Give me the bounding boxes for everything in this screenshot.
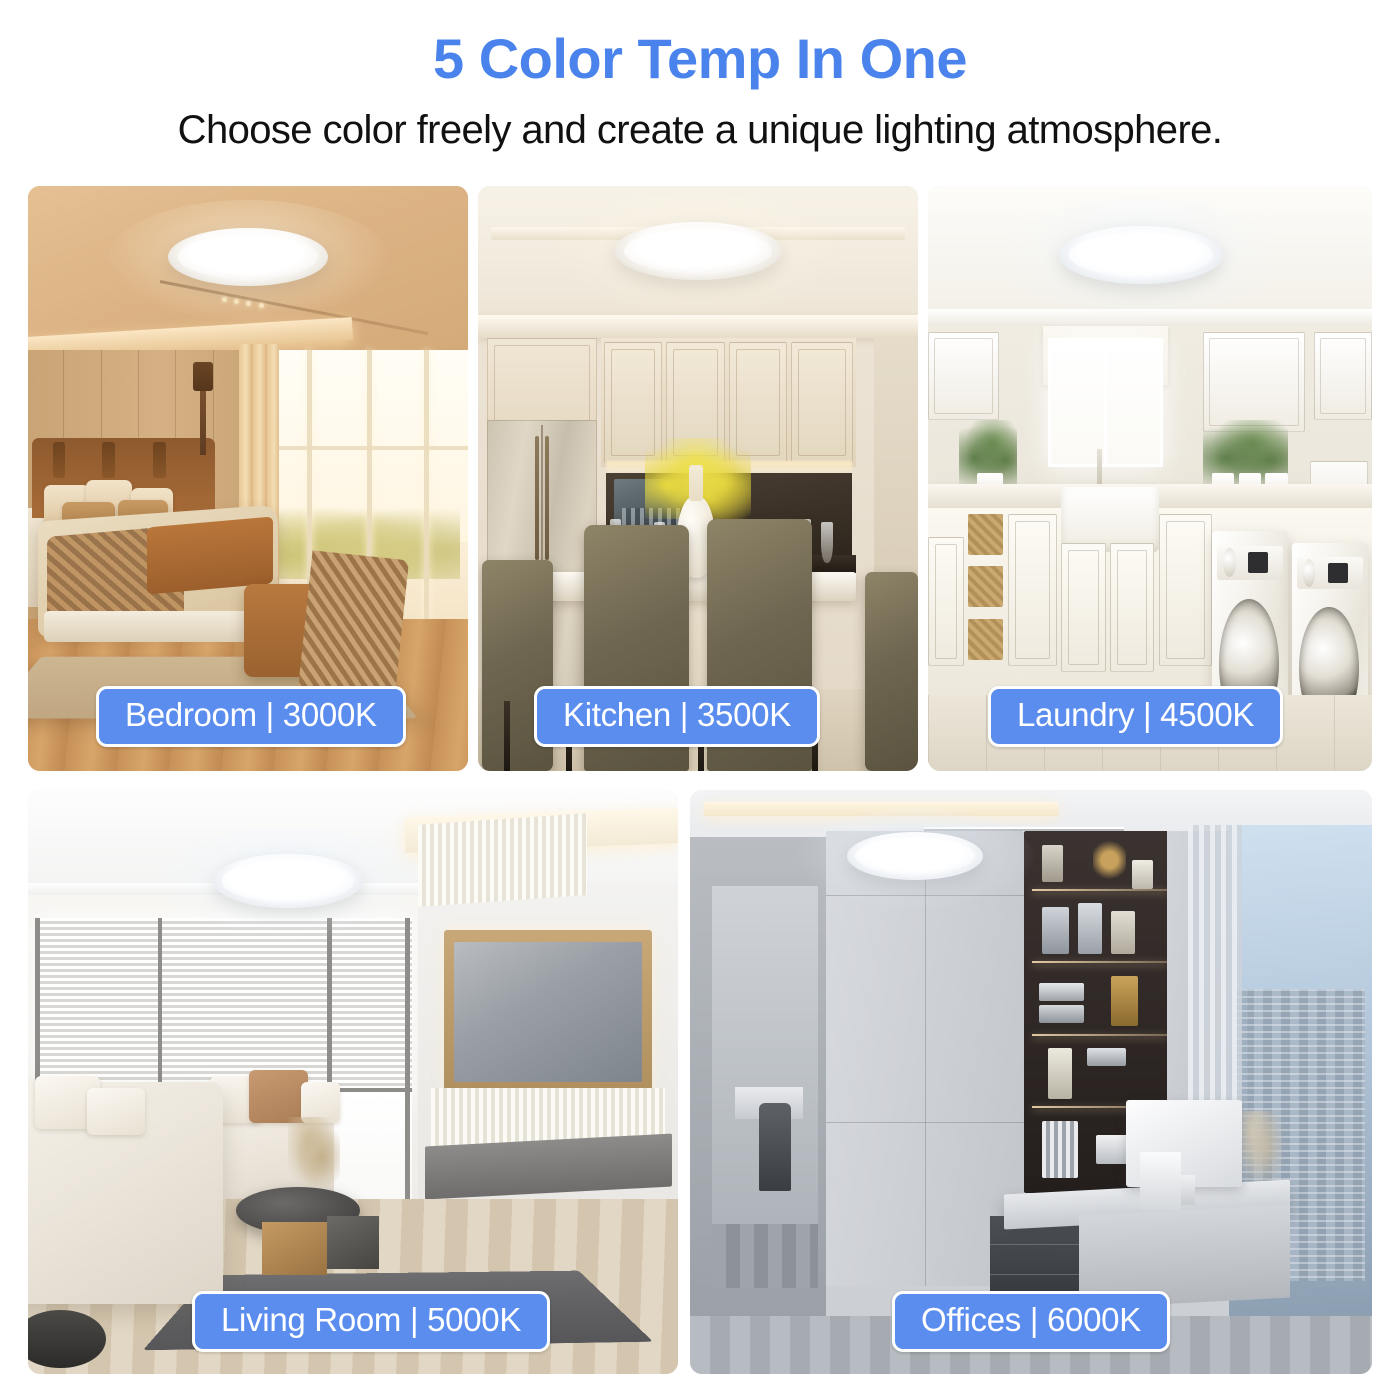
living-room-scene-illustration [28, 790, 678, 1374]
room-badge-bedroom[interactable]: Bedroom | 3000K [96, 686, 406, 747]
scene-tile-offices[interactable]: Offices | 6000K [690, 790, 1372, 1374]
scene-tile-kitchen[interactable]: Kitchen | 3500K [478, 186, 918, 771]
page-subtitle: Choose color freely and create a unique … [0, 108, 1400, 153]
ceiling-lamp-icon [168, 228, 328, 286]
ceiling-lamp-icon [847, 832, 983, 880]
room-badge-offices[interactable]: Offices | 6000K [892, 1291, 1170, 1352]
room-badge-living-room[interactable]: Living Room | 5000K [192, 1291, 550, 1352]
room-badge-kitchen[interactable]: Kitchen | 3500K [534, 686, 820, 747]
scene-tile-laundry[interactable]: Laundry | 4500K [928, 186, 1372, 771]
scene-tile-bedroom[interactable]: Bedroom | 3000K [28, 186, 468, 771]
laundry-scene-illustration [928, 186, 1372, 771]
scene-tile-living-room[interactable]: Living Room | 5000K [28, 790, 678, 1374]
room-badge-laundry[interactable]: Laundry | 4500K [988, 686, 1283, 747]
ceiling-lamp-icon [1059, 226, 1223, 284]
ceiling-lamp-icon [614, 222, 782, 280]
product-feature-page: 5 Color Temp In One Choose color freely … [0, 0, 1400, 1400]
bedroom-scene-illustration [28, 186, 468, 771]
page-title: 5 Color Temp In One [0, 26, 1400, 91]
kitchen-scene-illustration [478, 186, 918, 771]
ceiling-lamp-icon [213, 854, 363, 908]
offices-scene-illustration [690, 790, 1372, 1374]
